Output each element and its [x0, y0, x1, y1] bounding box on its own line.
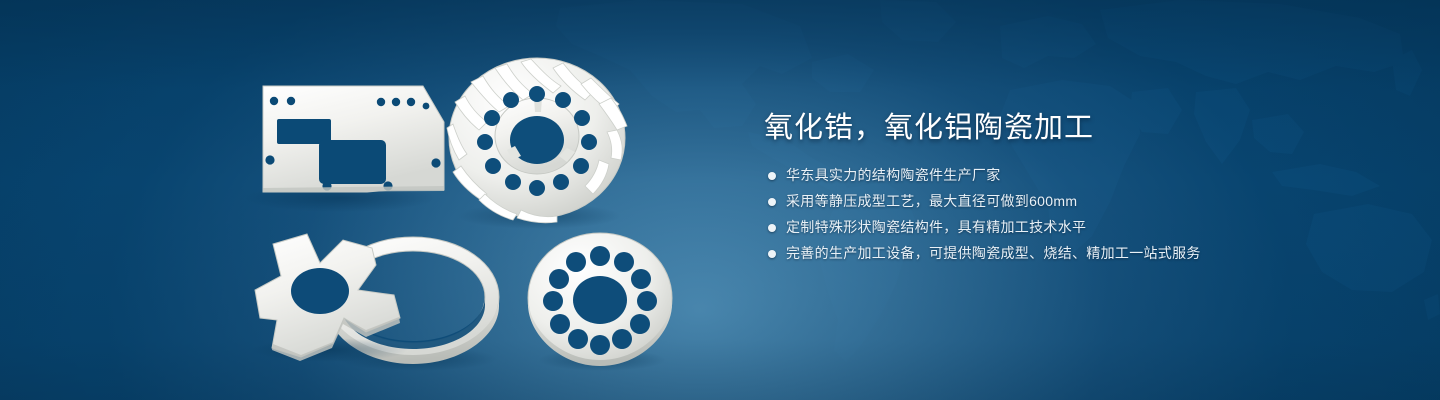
page-title: 氧化锆，氧化铝陶瓷加工	[764, 108, 1384, 148]
ceramic-impeller-part	[447, 58, 627, 229]
list-item: 定制特殊形状陶瓷结构件，具有精加工技术水平	[764, 216, 1384, 239]
product-photo-cluster	[0, 0, 720, 400]
list-item-label: 完善的生产加工设备，可提供陶瓷成型、烧结、精加工一站式服务	[786, 242, 1201, 265]
bullet-dot-icon	[768, 198, 776, 206]
ceramic-perforated-disc-part	[528, 233, 672, 371]
feature-list: 华东具实力的结构陶瓷件生产厂家 采用等静压成型工艺，最大直径可做到600mm 定…	[764, 164, 1384, 265]
list-item: 华东具实力的结构陶瓷件生产厂家	[764, 164, 1384, 187]
bullet-dot-icon	[768, 250, 776, 258]
list-item-label: 采用等静压成型工艺，最大直径可做到600mm	[786, 190, 1077, 213]
list-item-label: 华东具实力的结构陶瓷件生产厂家	[786, 164, 1001, 187]
banner-copy: 氧化锆，氧化铝陶瓷加工 华东具实力的结构陶瓷件生产厂家 采用等静压成型工艺，最大…	[764, 108, 1384, 268]
bullet-dot-icon	[768, 172, 776, 180]
list-item: 完善的生产加工设备，可提供陶瓷成型、烧结、精加工一站式服务	[764, 242, 1384, 265]
promo-banner: 氧化锆，氧化铝陶瓷加工 华东具实力的结构陶瓷件生产厂家 采用等静压成型工艺，最大…	[0, 0, 1440, 400]
bullet-dot-icon	[768, 224, 776, 232]
list-item-label: 定制特殊形状陶瓷结构件，具有精加工技术水平	[786, 216, 1086, 239]
ceramic-plate-part	[244, 86, 444, 212]
list-item: 采用等静压成型工艺，最大直径可做到600mm	[764, 190, 1384, 213]
